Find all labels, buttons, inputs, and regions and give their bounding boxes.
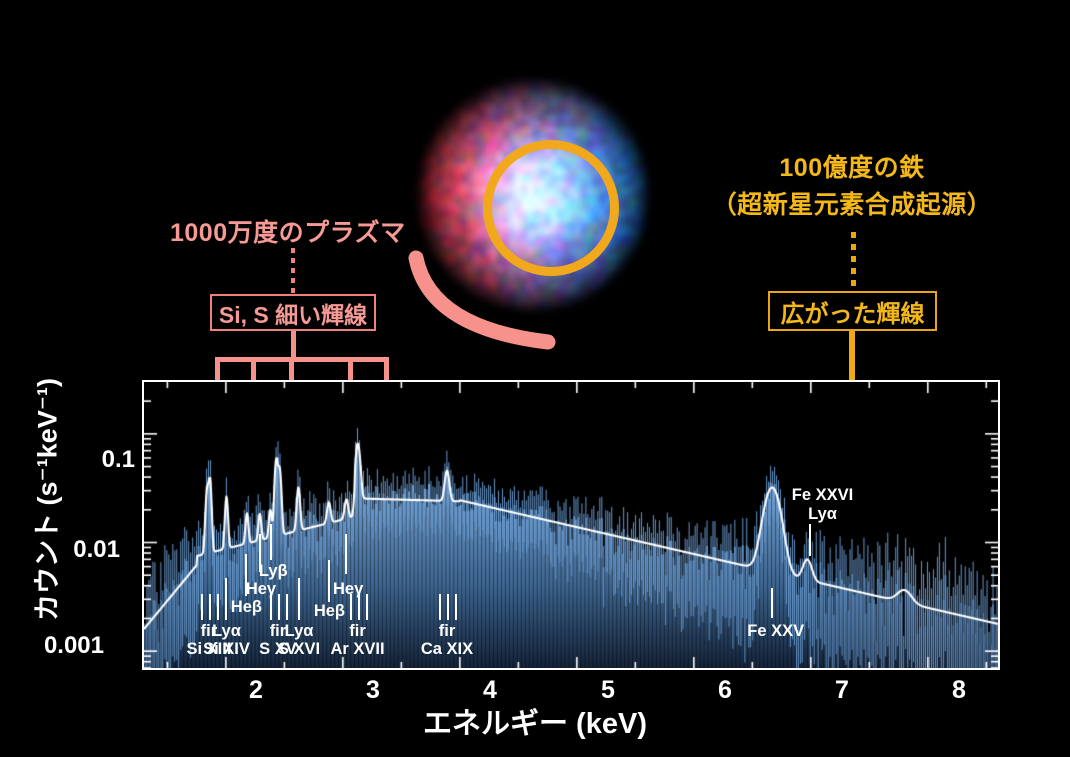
line-marker-group <box>350 594 366 620</box>
label-fe26-ion: Fe XXVI <box>792 486 853 505</box>
x-axis-label: エネルギー (keV) <box>0 700 1070 742</box>
label-ar-hebeta: Heβ <box>314 602 345 621</box>
pink-stem <box>291 331 296 360</box>
tick-ar-hebeta <box>328 560 330 602</box>
plasma-annotation-label: 1000万度のプラズマ <box>170 213 406 249</box>
y-axis-label: カウント (s⁻¹keV⁻¹) <box>26 360 65 640</box>
tick-fe25 <box>771 588 773 618</box>
label-ca19-ion: Ca XIX <box>421 640 473 659</box>
label-ar17-ion: Ar XVII <box>330 640 384 659</box>
figure-root: 1000万度のプラズマ Si, S 細い輝線 100億度の鉄 （超新星元素合成起… <box>0 0 1070 757</box>
tick-si14 <box>225 578 227 620</box>
label-si14-lya: Lyα <box>212 622 241 641</box>
tick-fe26 <box>809 524 811 556</box>
orange-dotted-connector <box>851 232 856 290</box>
spectrum-plot: firSi XIIILyαSi XIVHeβHeγLyβfirS XVLyαS … <box>142 380 1000 670</box>
label-fe26-lya: Lyα <box>808 505 837 524</box>
label-ar17-fir: fir <box>349 622 366 641</box>
iron-annotation-box: 広がった輝線 <box>768 291 937 331</box>
plasma-annotation-box: Si, S 細い輝線 <box>210 294 376 331</box>
label-si14-ion: Si XIV <box>203 640 250 659</box>
pink-crossbar <box>215 357 389 362</box>
line-id-overlay: firSi XIIILyαSi XIVHeβHeγLyβfirS XVLyαS … <box>144 382 998 668</box>
iron-annotation-line2: （超新星元素合成起源） <box>702 185 1002 221</box>
line-marker-group <box>201 594 217 620</box>
pink-dotted-connector <box>291 248 295 294</box>
label-ca19-fir: fir <box>439 622 456 641</box>
line-marker-group <box>270 594 286 620</box>
tick-s-lybeta <box>270 524 272 560</box>
label-s16-ion: S XVI <box>278 640 320 659</box>
pink-arc-annotation <box>408 250 558 360</box>
tick-ar-hegamma <box>345 534 347 574</box>
tick-s16 <box>298 578 300 620</box>
label-s16-lya: Lyα <box>285 622 314 641</box>
line-marker-group <box>439 594 455 620</box>
label-fe25-ion: Fe XXV <box>747 622 804 641</box>
iron-annotation-line1: 100億度の鉄 <box>702 148 1002 184</box>
label-s-lybeta: Lyβ <box>259 562 288 581</box>
label-s-hebeta: Heβ <box>231 598 262 617</box>
